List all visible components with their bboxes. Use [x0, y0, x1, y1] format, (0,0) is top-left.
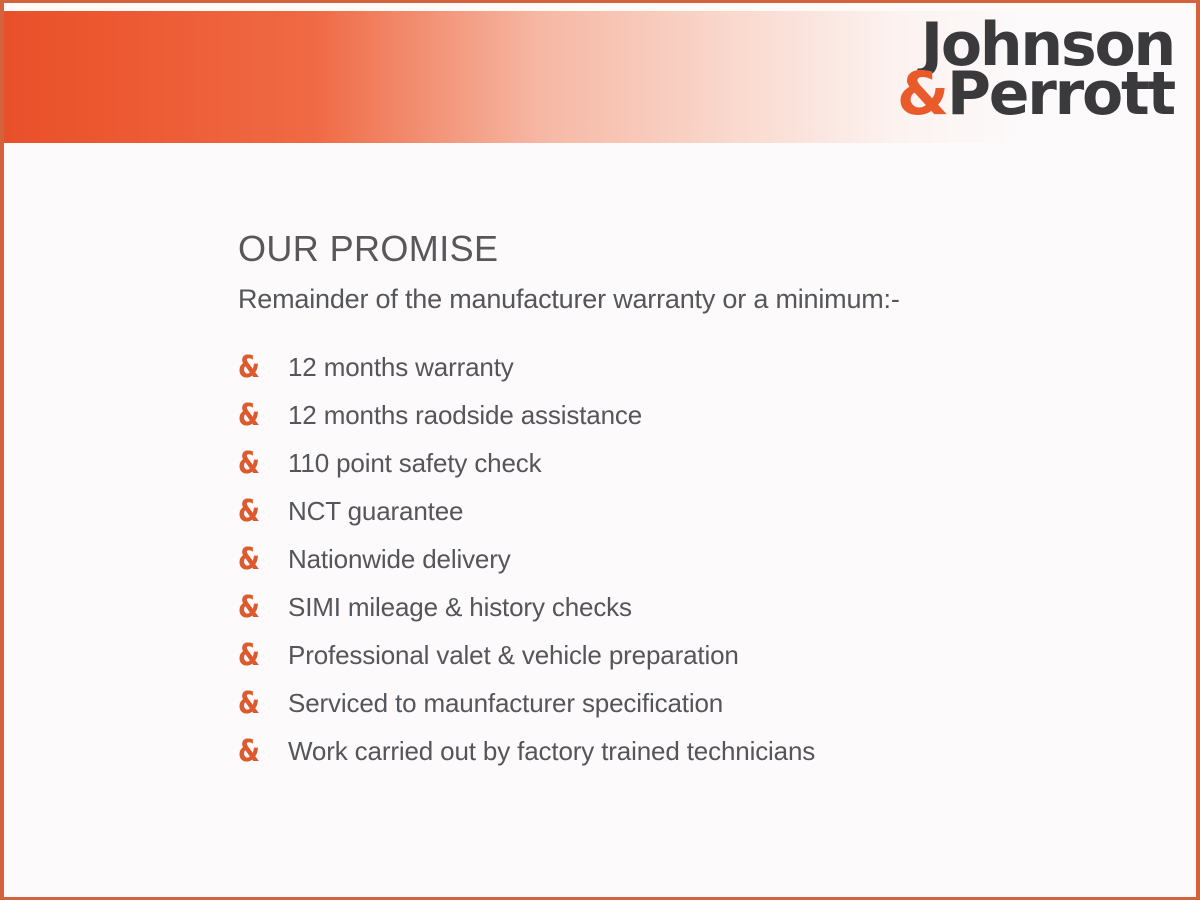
header-banner: Johnson &Perrott [4, 11, 1196, 143]
page-title: OUR PROMISE [238, 228, 1158, 269]
list-item-label: 12 months warranty [288, 352, 514, 383]
list-item-label: 110 point safety check [288, 448, 542, 479]
brand-logo: Johnson &Perrott [897, 19, 1174, 121]
list-item: & 12 months warranty [238, 344, 1158, 392]
ampersand-bullet-icon: & [238, 593, 279, 623]
list-item: & Work carried out by factory trained te… [238, 728, 1158, 776]
ampersand-bullet-icon: & [238, 641, 279, 671]
right-border-rule [1196, 0, 1200, 900]
list-item: & SIMI mileage & history checks [238, 584, 1158, 632]
list-item: & 12 months raodside assistance [238, 392, 1158, 440]
list-item-label: Nationwide delivery [288, 544, 511, 575]
ampersand-bullet-icon: & [238, 737, 279, 767]
brand-logo-line2: &Perrott [897, 68, 1174, 121]
list-item: & Serviced to maunfacturer specification [238, 680, 1158, 728]
list-item: & Professional valet & vehicle preparati… [238, 632, 1158, 680]
list-item-label: SIMI mileage & history checks [288, 592, 632, 623]
promise-content: OUR PROMISE Remainder of the manufacture… [238, 228, 1158, 776]
ampersand-bullet-icon: & [238, 497, 279, 527]
promise-subtitle: Remainder of the manufacturer warranty o… [238, 283, 1158, 315]
brand-ampersand-icon: & [897, 59, 947, 129]
ampersand-bullet-icon: & [238, 689, 279, 719]
ampersand-bullet-icon: & [238, 545, 279, 575]
list-item-label: Serviced to maunfacturer specification [288, 688, 723, 719]
promise-page: Johnson &Perrott OUR PROMISE Remainder o… [0, 0, 1200, 900]
promise-list: & 12 months warranty & 12 months raodsid… [238, 344, 1158, 776]
list-item: & Nationwide delivery [238, 536, 1158, 584]
list-item-label: NCT guarantee [288, 496, 463, 527]
ampersand-bullet-icon: & [238, 353, 279, 383]
list-item-label: Professional valet & vehicle preparation [288, 640, 739, 671]
list-item-label: 12 months raodside assistance [288, 400, 642, 431]
ampersand-bullet-icon: & [238, 401, 279, 431]
ampersand-bullet-icon: & [238, 449, 279, 479]
list-item: & 110 point safety check [238, 440, 1158, 488]
list-item: & NCT guarantee [238, 488, 1158, 536]
list-item-label: Work carried out by factory trained tech… [288, 736, 815, 767]
brand-logo-line2-text: Perrott [947, 59, 1174, 129]
